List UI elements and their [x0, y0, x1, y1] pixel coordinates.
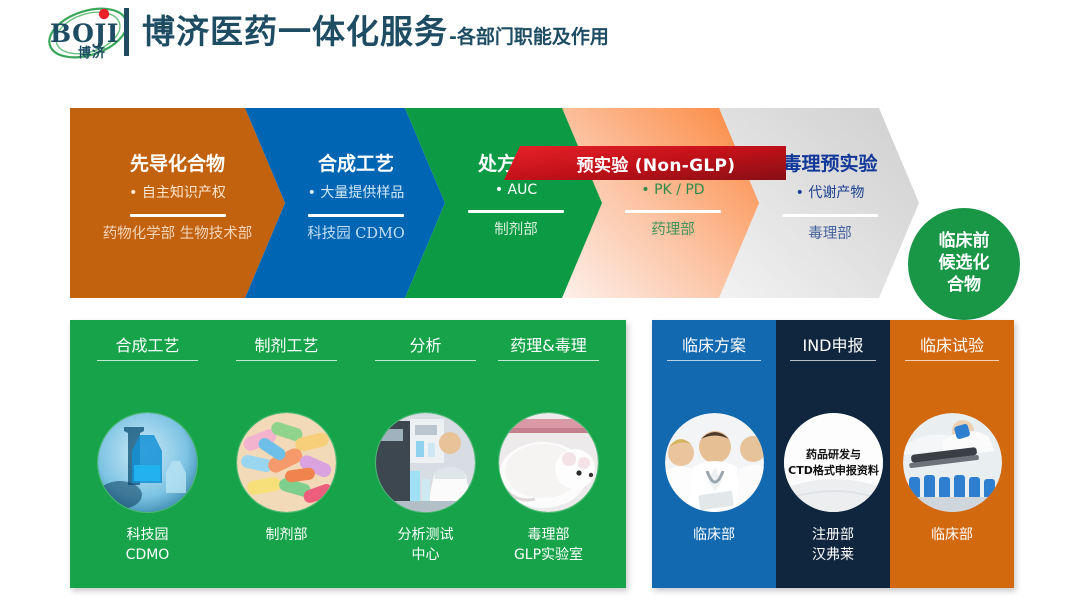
green-column-header: 分析: [356, 332, 495, 356]
lab-mouse-photo-svg: [499, 413, 598, 512]
flow-stage-bullet: • PK / PD: [641, 182, 704, 198]
flow-stage-department: 药物化学部 生物技术部: [103, 224, 253, 245]
green-column-label: 制剂部: [217, 526, 356, 546]
page-title-main: 博济医药一体化服务: [142, 8, 448, 56]
flow-stage-rule: [782, 214, 878, 217]
right-column-label: 临床部: [652, 526, 776, 546]
flow-stage-bullet: • 自主知识产权: [129, 182, 226, 202]
green-column-analysis[interactable]: 分析 分析测试 中心: [356, 320, 495, 588]
analyst-instrument-photo: [376, 413, 475, 512]
flow-stage-department: 制剂部: [494, 220, 538, 241]
green-column-label: 分析测试 中心: [356, 526, 495, 566]
right-column-rule: [667, 360, 761, 361]
right-column-rule: [905, 360, 999, 361]
flow-stage-title: 先导化合物: [130, 154, 225, 175]
capsules-photo-svg: [237, 413, 336, 512]
preclinical-candidate-label: 临床前 候选化 合物: [939, 231, 990, 296]
preclinical-candidate-circle: 临床前 候选化 合物: [908, 208, 1020, 320]
green-column-rule: [236, 360, 337, 361]
green-column-rule: [97, 360, 198, 361]
lab-flask-photo-svg: [98, 413, 197, 512]
preclinical-services-panel: 合成工艺 科技园 CDMO 制剂工艺: [70, 320, 626, 588]
flow-stage-rule: [308, 214, 404, 217]
ind-document-circle-text: 药品研发与 CTD格式申报资料: [784, 413, 883, 512]
green-column-label: 毒理部 GLP实验室: [479, 526, 618, 566]
pipette-rack-photo: [903, 413, 1002, 512]
green-column-formulation[interactable]: 制剂工艺 制剂部: [217, 320, 356, 588]
ind-document-circle: 药品研发与 CTD格式申报资料: [784, 413, 883, 512]
lab-mouse-photo: [499, 413, 598, 512]
right-column-header: 临床试验: [890, 332, 1014, 356]
lab-flask-photo: [98, 413, 197, 512]
green-column-label: 科技园 CDMO: [78, 526, 217, 566]
flow-stage-title: 毒理预实验: [782, 154, 877, 175]
process-flow-diagram: 先导化合物 • 自主知识产权 药物化学部 生物技术部 药代分析部 合成工艺 • …: [0, 70, 1080, 310]
non-glp-banner-label: 预实验 (Non-GLP): [504, 146, 786, 180]
right-column-header: IND申报: [776, 332, 890, 356]
capsules-photo: [237, 413, 336, 512]
page-title-subtitle: -各部门职能及作用: [449, 22, 609, 49]
green-column-header: 药理&毒理: [479, 332, 618, 356]
non-glp-banner: 预实验 (Non-GLP): [504, 146, 786, 180]
page-title: 博济医药一体化服务 -各部门职能及作用: [142, 8, 609, 56]
clinical-services-panel: 临床方案 临床部 IND申报: [652, 320, 1014, 588]
green-column-header: 制剂工艺: [217, 332, 356, 356]
green-column-rule: [498, 360, 599, 361]
flow-stage-bullet: • 大量提供样品: [308, 182, 405, 202]
flow-stage-department: 科技园 CDMO: [307, 224, 405, 245]
flow-stage-tox-pre-study[interactable]: 毒理预实验 • 代谢产物 毒理部: [719, 108, 919, 298]
right-column-ind-filing[interactable]: IND申报 药品研发与 CTD格式申报资料 注册部 汉弗莱: [776, 320, 890, 588]
right-column-header: 临床方案: [652, 332, 776, 356]
right-column-label: 注册部 汉弗莱: [776, 526, 890, 566]
right-column-rule: [790, 360, 877, 361]
flow-stage-bullet: • 代谢产物: [796, 182, 865, 202]
flow-stage-department: 毒理部: [808, 224, 852, 245]
logo-chinese-name: 博济: [78, 42, 106, 61]
flow-stage-rule: [625, 210, 721, 213]
right-column-label: 临床部: [890, 526, 1014, 546]
flow-stage-title: 合成工艺: [318, 154, 394, 175]
pipette-rack-photo-svg: [903, 413, 1002, 512]
green-column-rule: [375, 360, 476, 361]
green-column-synthesis[interactable]: 合成工艺 科技园 CDMO: [78, 320, 217, 588]
right-column-clinical-plan[interactable]: 临床方案 临床部: [652, 320, 776, 588]
green-column-header: 合成工艺: [78, 332, 217, 356]
doctors-consult-photo: [665, 413, 764, 512]
page-header: BOJI 博济 博济医药一体化服务 -各部门职能及作用: [0, 0, 1080, 68]
analyst-instrument-photo-svg: [376, 413, 475, 512]
header-divider: [124, 8, 129, 56]
flow-stage-rule: [130, 214, 226, 217]
flow-stage-rule: [468, 210, 564, 213]
doctors-consult-photo-svg: [665, 413, 764, 512]
right-column-clinical-trial[interactable]: 临床试验 临床部: [890, 320, 1014, 588]
flow-stage-bullet: • AUC: [495, 182, 537, 198]
flow-stage-department: 药理部: [651, 220, 695, 241]
green-column-pharm-tox[interactable]: 药理&毒理 毒理部 GLP实验室: [479, 320, 618, 588]
